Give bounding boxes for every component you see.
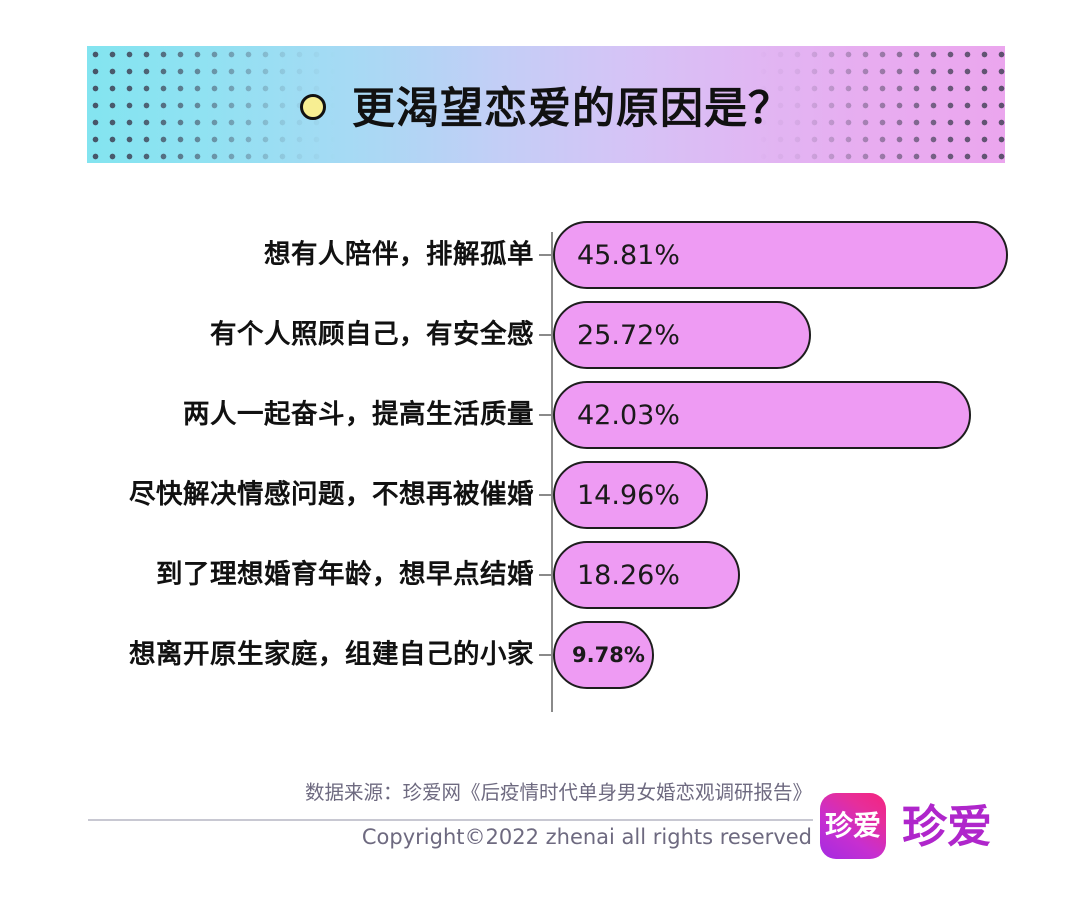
bar-category-label: 到了理想婚育年龄，想早点结婚 [156, 535, 534, 615]
copyright-text: Copyright©2022 zhenai all rights reserve… [362, 825, 812, 849]
axis-tick [539, 654, 552, 656]
bar-category-label: 有个人照顾自己，有安全感 [210, 295, 534, 375]
bar-row: 尽快解决情感问题，不想再被催婚 14.96% [0, 455, 1080, 535]
bar-item: 42.03% [553, 381, 971, 449]
logo-mark-label: 珍爱 [825, 812, 881, 840]
bar-value-label: 45.81% [577, 240, 680, 271]
bar-item: 14.96% [553, 461, 708, 529]
axis-tick [539, 494, 552, 496]
data-source-text: 数据来源：珍爱网《后疫情时代单身男女婚恋观调研报告》 [305, 776, 812, 805]
bar-category-label: 想离开原生家庭，组建自己的小家 [129, 615, 534, 695]
bar-row: 想有人陪伴，排解孤单 45.81% [0, 215, 1080, 295]
bar-row: 想离开原生家庭，组建自己的小家 9.78% [0, 615, 1080, 695]
axis-tick [539, 334, 552, 336]
bar-value-label: 42.03% [577, 400, 680, 431]
bar-value-label: 9.78% [572, 643, 645, 667]
axis-tick [539, 414, 552, 416]
footer-divider [88, 819, 813, 821]
bar-item: 18.26% [553, 541, 740, 609]
header-banner: 更渴望恋爱的原因是？ [87, 46, 1005, 163]
axis-tick [539, 254, 552, 256]
axis-tick [539, 574, 552, 576]
bar-item: 9.78% [553, 621, 654, 689]
bar-category-label: 两人一起奋斗，提高生活质量 [183, 375, 534, 455]
bar-item: 25.72% [553, 301, 811, 369]
logo-wordmark-label: 珍爱 [902, 804, 992, 849]
bar-value-label: 25.72% [577, 320, 680, 351]
bar-item: 45.81% [553, 221, 1008, 289]
circle-bullet-icon [300, 94, 326, 120]
header-title-group: 更渴望恋爱的原因是？ [87, 46, 1005, 163]
bar-value-label: 14.96% [577, 480, 680, 511]
bar-row: 两人一起奋斗，提高生活质量 42.03% [0, 375, 1080, 455]
bar-value-label: 18.26% [577, 560, 680, 591]
bar-row: 到了理想婚育年龄，想早点结婚 18.26% [0, 535, 1080, 615]
bar-category-label: 尽快解决情感问题，不想再被催婚 [129, 455, 534, 535]
logo-mark-icon: 珍爱 [820, 793, 886, 859]
bar-row: 有个人照顾自己，有安全感 25.72% [0, 295, 1080, 375]
brand-logo: 珍爱 珍爱 [820, 793, 992, 859]
page-title: 更渴望恋爱的原因是？ [352, 74, 792, 136]
bar-category-label: 想有人陪伴，排解孤单 [264, 215, 534, 295]
bar-chart: 想有人陪伴，排解孤单 45.81% 有个人照顾自己，有安全感 25.72% 两人… [0, 215, 1080, 725]
